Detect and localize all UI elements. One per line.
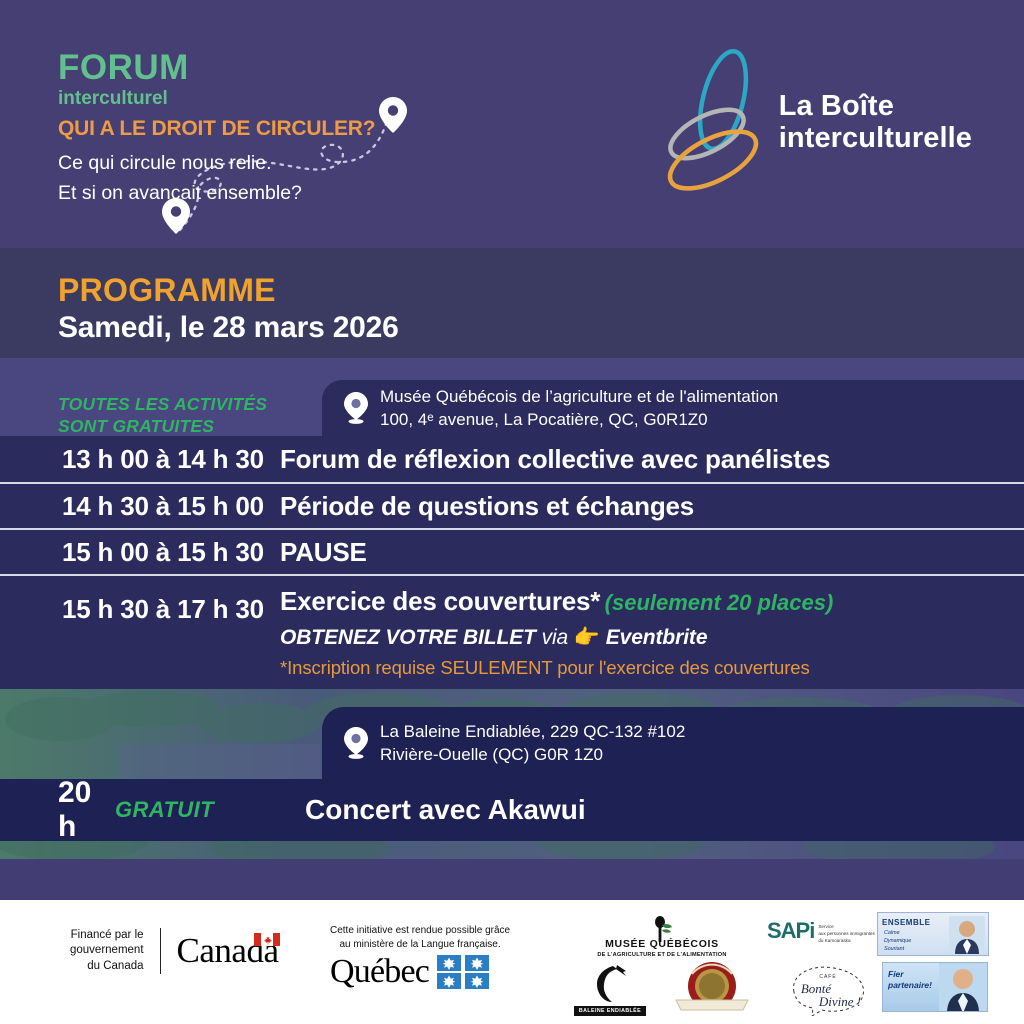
hero-tagline-2: Et si on avançait ensemble? [58, 179, 375, 207]
row-time: 15 h 00 à 15 h 30 [0, 537, 280, 568]
row-desc-line: Exercice des couvertures* (seulement 20 … [280, 586, 833, 617]
divider [160, 928, 161, 974]
forum-title: FORUM [58, 50, 375, 85]
canada-sponsor: Financé par le gouvernement du Canada Ca… [70, 928, 278, 974]
venue-2-card: La Baleine Endiablée, 229 QC-132 #102 Ri… [322, 707, 1024, 779]
seats-note: (seulement 20 places) [605, 590, 834, 615]
quebec-caption-l1: Cette initiative est rendue possible grâ… [330, 924, 510, 938]
bonte-divine-cafe-logo: CAFÉ Bonté Divine ! [782, 962, 874, 1016]
row-time: 15 h 30 à 17 h 30 [0, 586, 280, 625]
sponsors-footer: Financé par le gouvernement du Canada Ca… [0, 900, 1024, 1024]
programme-title: PROGRAMME [58, 274, 1024, 308]
musee-name: MUSÉE QUÉBÉCOIS [572, 938, 752, 950]
hero-section: FORUM interculturel QUI A LE DROIT DE CI… [0, 0, 1024, 248]
quebec-fleurdelis-icon [437, 955, 489, 989]
concert-desc: Concert avec Akawui [305, 794, 586, 826]
quebec-caption-l2: au ministère de la Langue française. [330, 938, 510, 952]
quebec-caption: Cette initiative est rendue possible grâ… [330, 924, 510, 951]
brand-name-line2: interculturelle [779, 122, 972, 154]
svg-text:CAFÉ: CAFÉ [819, 973, 836, 980]
venue-1-address: Musée Québécois de l’agriculture et de l… [380, 385, 778, 432]
free-note-line2: SONT GRATUITES [58, 416, 267, 438]
concert-time: 20 h [0, 776, 115, 844]
fier-partenaire-logo: Fier partenaire! [882, 962, 988, 1012]
baleine-caption: BALEINE ENDIABLÉE [574, 1006, 646, 1016]
ticket-prefix: OBTENEZ VOTRE BILLET [280, 626, 536, 649]
concert-row: 20 h GRATUIT Concert avec Akawui [0, 779, 1024, 841]
row-desc-block: Exercice des couvertures* (seulement 20 … [280, 586, 833, 679]
venue-1-row: TOUTES LES ACTIVITÉS SONT GRATUITES Musé… [0, 380, 1024, 436]
poster: FORUM interculturel QUI A LE DROIT DE CI… [0, 0, 1024, 1024]
table-row: 14 h 30 à 15 h 00 Période de questions e… [0, 482, 1024, 528]
sapi-tagline-l2: aux personnes immigrantes [818, 931, 874, 938]
sapi-wordmark: SAPi [767, 918, 814, 944]
venue-1-card: Musée Québécois de l’agriculture et de l… [322, 380, 1024, 436]
programme-date: Samedi, le 28 mars 2026 [58, 311, 1024, 345]
baleine-endiablee-logo: BALEINE ENDIABLÉE [574, 964, 646, 1016]
registration-footnote: *Inscription requise SEULEMENT pour l'ex… [280, 657, 833, 679]
status-badge: GRATUIT [115, 797, 305, 823]
venue-2-name: La Baleine Endiablée, 229 QC-132 #102 [380, 720, 685, 743]
sapi-tagline: Service aux personnes immigrantes du Kam… [818, 924, 874, 945]
brand-logo: La Boîte interculturelle [661, 42, 972, 202]
ensemble-tagline-l1: Calme [884, 929, 911, 937]
row-time: 13 h 00 à 14 h 30 [0, 444, 280, 475]
sapi-logo: SAPi Service aux personnes immigrantes d… [767, 918, 875, 945]
ensemble-tagline-l2: Dynamique [884, 937, 911, 945]
venue-1-name: Musée Québécois de l’agriculture et de l… [380, 385, 778, 408]
whale-icon [587, 964, 633, 1004]
fier-label: Fier partenaire! [888, 969, 932, 991]
svg-text:Divine !: Divine ! [818, 994, 861, 1009]
quebec-sponsor: Cette initiative est rendue possible grâ… [330, 924, 510, 991]
politician-portrait-icon [949, 916, 985, 954]
canada-caption-l3: du Canada [70, 959, 144, 974]
musee-quebecois-logo: MUSÉE QUÉBÉCOIS DE L'AGRICULTURE ET DE L… [572, 916, 752, 958]
eventbrite-link[interactable]: Eventbrite [606, 626, 708, 649]
schedule-section: TOUTES LES ACTIVITÉS SONT GRATUITES Musé… [0, 358, 1024, 859]
row-desc: Forum de réflexion collective avec panél… [280, 444, 830, 475]
sapi-tagline-l3: du Kamouraska [818, 938, 874, 945]
schedule-rows: 13 h 00 à 14 h 30 Forum de réflexion col… [0, 436, 1024, 689]
ticket-via: via [542, 626, 569, 649]
pointing-hand-icon: 👉 [574, 626, 600, 649]
hero-text-block: FORUM interculturel QUI A LE DROIT DE CI… [58, 50, 375, 207]
partner-logos: MUSÉE QUÉBÉCOIS DE L'AGRICULTURE ET DE L… [562, 912, 1002, 1018]
venue-2-address: La Baleine Endiablée, 229 QC-132 #102 Ri… [380, 720, 685, 767]
row-desc: Période de questions et échanges [280, 491, 694, 522]
sapi-tagline-l1: Service [818, 924, 874, 931]
canada-flag-icon [254, 933, 280, 946]
location-pin-icon [344, 392, 368, 424]
table-row: 13 h 00 à 14 h 30 Forum de réflexion col… [0, 436, 1024, 482]
row-desc: Exercice des couvertures* [280, 586, 600, 616]
venue-2-city: Rivière-Ouelle (QC) G0R 1Z0 [380, 743, 685, 766]
row-desc: PAUSE [280, 537, 367, 568]
ticket-line: OBTENEZ VOTRE BILLET via 👉 Eventbrite [280, 626, 833, 650]
brand-name-line1: La Boîte [779, 90, 972, 122]
row-time: 14 h 30 à 15 h 00 [0, 491, 280, 522]
canada-wordmark: Canada [177, 931, 279, 971]
location-pin-icon [344, 727, 368, 759]
table-row-highlight: 15 h 30 à 17 h 30 Exercice des couvertur… [0, 574, 1024, 689]
canada-caption: Financé par le gouvernement du Canada [70, 928, 144, 974]
free-activities-note: TOUTES LES ACTIVITÉS SONT GRATUITES [58, 394, 267, 438]
ensemble-sponsor-logo: ENSEMBLE Calme Dynamique Souriant [877, 912, 989, 956]
fier-label-l1: Fier [888, 969, 932, 980]
ensemble-label: ENSEMBLE [882, 918, 930, 927]
brand-name: La Boîte interculturelle [779, 90, 972, 155]
table-row: 15 h 00 à 15 h 30 PAUSE [0, 528, 1024, 574]
quebec-wordmark-text: Québec [330, 953, 429, 991]
programme-header: PROGRAMME Samedi, le 28 mars 2026 [0, 248, 1024, 358]
ensemble-tagline: Calme Dynamique Souriant [884, 929, 911, 953]
fier-label-l2: partenaire! [888, 980, 932, 991]
ensemble-tagline-l3: Souriant [884, 945, 911, 953]
venue-1-street: 100, 4ᵉ avenue, La Pocatière, QC, G0R1Z0 [380, 408, 778, 431]
three-rings-logo-icon [661, 42, 771, 202]
canada-caption-l1: Financé par le [70, 928, 144, 943]
forum-subtitle: interculturel [58, 87, 375, 111]
forum-question: QUI A LE DROIT DE CIRCULER? [58, 117, 375, 141]
gold-medal-badge-icon [670, 960, 754, 1016]
venue-2-section: La Baleine Endiablée, 229 QC-132 #102 Ri… [0, 689, 1024, 859]
hero-tagline-1: Ce qui circule nous relie. [58, 149, 375, 177]
quebec-wordmark: Québec [330, 953, 510, 991]
musee-tagline: DE L'AGRICULTURE ET DE L'ALIMENTATION [572, 952, 752, 958]
free-note-line1: TOUTES LES ACTIVITÉS [58, 394, 267, 416]
politician-portrait-icon [939, 963, 987, 1012]
canada-caption-l2: gouvernement [70, 943, 144, 958]
